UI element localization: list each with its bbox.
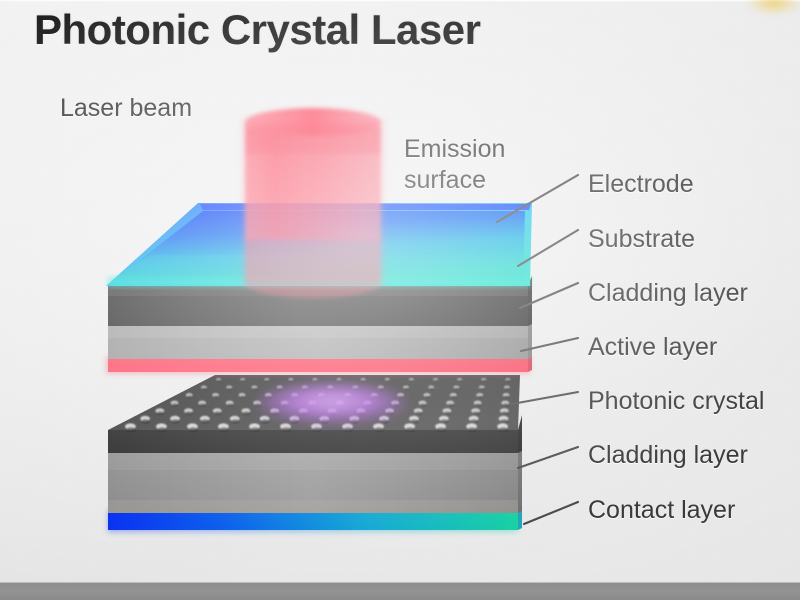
photonic-crystal-hole-shadow <box>240 396 246 399</box>
callout-label-substrate-1: Substrate <box>588 225 695 254</box>
photonic-crystal-hole-shadow <box>429 388 434 390</box>
photonic-crystal-hole-shadow <box>199 403 206 406</box>
photonic-crystal-hole-shadow <box>157 411 165 415</box>
photonic-crystal-hole-shadow <box>420 403 427 406</box>
photonic-crystal-hole-shadow <box>444 411 452 415</box>
photonic-crystal-hole-shadow <box>504 396 510 399</box>
photonic-crystal-hole-shadow <box>241 380 245 382</box>
lasing-spot <box>257 382 407 426</box>
photonic-crystal-hole-shadow <box>468 427 477 431</box>
callout-label-active-layer-3: Active layer <box>588 333 717 362</box>
photonic-crystal-hole-shadow <box>410 380 414 382</box>
photonic-crystal-hole-shadow <box>202 388 207 390</box>
photonic-crystal-hole-shadow <box>434 380 438 382</box>
photonic-crystal-hole-shadow <box>415 411 423 415</box>
photonic-crystal-hole-shadow <box>188 427 197 431</box>
photonic-crystal-hole-shadow <box>344 427 353 431</box>
photonic-crystal-hole-shadow <box>410 419 418 423</box>
photonic-crystal-hole-shadow <box>313 427 322 431</box>
photonic-crystal-hole-shadow <box>404 388 409 390</box>
photonic-crystal-hole-shadow <box>451 396 457 399</box>
bottom-gray-bar <box>0 582 800 600</box>
photonic-crystal-hole-shadow <box>251 427 260 431</box>
photonic-crystal-hole-shadow <box>338 380 342 382</box>
photonic-crystal-hole-shadow <box>470 419 478 423</box>
photonic-crystal-hole-shadow <box>171 419 179 423</box>
photonic-crystal-hole-shadow <box>437 427 446 431</box>
photonic-crystal-side <box>518 415 522 453</box>
photonic-crystal-hole-shadow <box>185 411 193 415</box>
photonic-crystal-hole-shadow <box>187 396 193 399</box>
photonic-crystal-hole-shadow <box>227 388 232 390</box>
contact-layer-glow <box>108 510 518 532</box>
photonic-crystal-hole-shadow <box>501 411 509 415</box>
photonic-crystal-hole-shadow <box>499 427 508 431</box>
page-title: Photonic Crystal Laser <box>34 6 480 54</box>
photonic-crystal-hole-shadow <box>500 419 508 423</box>
photonic-crystal-hole-shadow <box>261 419 269 423</box>
leader-line-cladding-lower <box>518 447 578 468</box>
photonic-crystal-hole-shadow <box>265 380 269 382</box>
photonic-crystal-hole-shadow <box>314 380 318 382</box>
photonic-crystal-hole-shadow <box>440 419 448 423</box>
photonic-crystal-hole-shadow <box>126 427 135 431</box>
photonic-crystal-hole-shadow <box>282 427 291 431</box>
photonic-crystal-hole-shadow <box>458 380 462 382</box>
photonic-crystal-hole-shadow <box>213 396 219 399</box>
photonic-crystal-hole-shadow <box>157 427 166 431</box>
photonic-crystal-hole-shadow <box>142 419 150 423</box>
photonic-crystal-hole-shadow <box>172 403 179 406</box>
emission-surface-label-line2: surface <box>404 166 486 195</box>
photonic-crystal-hole-shadow <box>482 380 486 382</box>
photonic-crystal-hole-shadow <box>289 380 293 382</box>
photonic-crystal-front <box>108 430 518 453</box>
emission-surface-label-line1: Emission <box>404 135 505 164</box>
photonic-crystal-hole-shadow <box>477 396 483 399</box>
photonic-crystal-hole-shadow <box>425 396 431 399</box>
photonic-crystal-hole-shadow <box>201 419 209 423</box>
photonic-crystal-hole-shadow <box>231 419 239 423</box>
laser-beam-label: Laser beam <box>60 94 192 123</box>
laser-beam <box>240 108 386 298</box>
photonic-crystal-hole-shadow <box>386 380 390 382</box>
photonic-crystal-hole-shadow <box>447 403 454 406</box>
callout-label-cladding-layer-2: Cladding layer <box>588 279 748 308</box>
photonic-crystal-hole-shadow <box>406 427 415 431</box>
leader-line-electrode <box>497 175 578 222</box>
slide-canvas: Photonic Crystal Laser Laser beam Emissi… <box>0 0 800 600</box>
photonic-crystal-hole-shadow <box>214 411 222 415</box>
photonic-crystal-hole-shadow <box>480 388 485 390</box>
photonic-crystal-hole-shadow <box>506 380 510 382</box>
photonic-crystal-hole-shadow <box>252 388 257 390</box>
photonic-crystal-hole-shadow <box>502 403 509 406</box>
photonic-crystal-hole-shadow <box>454 388 459 390</box>
photonic-crystal-hole-shadow <box>217 380 221 382</box>
callout-label-cladding-layer-5: Cladding layer <box>588 441 748 470</box>
callout-label-electrode-0: Electrode <box>588 170 694 199</box>
photonic-crystal-hole-shadow <box>375 427 384 431</box>
photonic-crystal-hole-shadow <box>243 411 251 415</box>
callout-label-contact-layer-6: Contact layer <box>588 496 735 525</box>
photonic-crystal-hole-shadow <box>472 411 480 415</box>
photonic-crystal-hole-shadow <box>219 427 228 431</box>
photonic-crystal-hole-shadow <box>505 388 510 390</box>
photonic-crystal-hole-shadow <box>362 380 366 382</box>
lower-slab <box>108 375 522 532</box>
leader-line-contact <box>524 502 578 524</box>
callout-label-photonic-crystal-4: Photonic crystal <box>588 387 764 416</box>
photonic-crystal-hole-shadow <box>227 403 234 406</box>
photonic-crystal-hole-shadow <box>475 403 482 406</box>
leader-line-photonic-crystal <box>512 392 578 404</box>
